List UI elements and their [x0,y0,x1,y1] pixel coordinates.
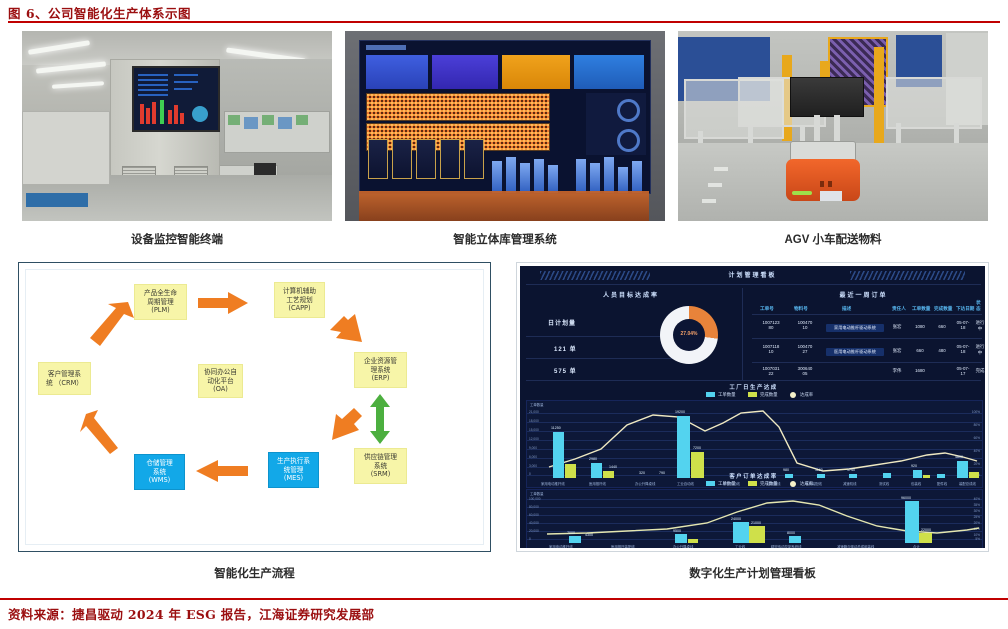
legend-label: 工单数量 [718,392,736,398]
bar-label: 9500 [673,529,681,533]
partition-wall [22,111,110,185]
xtick: 减速箱与驱动总成组装线 [837,544,874,548]
flow-node-erp-label: 企业资源管 理系统 (ERP) [364,357,397,384]
flow-node-erp[interactable]: 企业资源管 理系统 (ERP) [354,352,407,388]
flow-node-plm[interactable]: 产品全生命 周期管理 (PLM) [134,284,187,320]
xtick: 办公升降桌线 [635,481,655,486]
table-cell: 医用电动推杆驱动系统 [826,348,884,356]
flow-node-srm-label: 供应链管理 系统 (SRM) [364,453,397,480]
kpi-value-completed: 121 单 [554,344,577,353]
cart [26,193,88,207]
xtick: 配件线 [937,481,947,486]
chart-bottom: 工单数量 100,000 80,000 60,000 40,000 20,000… [526,489,983,548]
xtick: 合计 [913,544,920,548]
figure-title: 图 6、公司智能化生产体系示图 [8,3,191,22]
kpi-tile [432,55,498,89]
photo-equipment-monitor [22,31,332,221]
kpi-value-total: 575 单 [554,366,577,375]
monitor-screen [132,66,220,132]
flow-node-crm-label: 客户管理系 统 （CRM） [46,370,83,388]
xtick: 装配总成线 [959,481,976,486]
photo-warehouse-system [345,31,665,221]
bar-label: 22000 [921,528,931,532]
flow-node-wms-label: 仓储管理 系统 (WMS) [146,459,172,486]
flow-node-mes-label: 生产执行系 统管理 (MES) [277,457,310,484]
xtick: 家用电动推杆线 [541,481,565,486]
dashboard-screen: 计划管理看板 人员目标达成率 日计划量 121 单 575 单 27.04% 最… [520,266,985,548]
legend-swatch [706,392,715,397]
donut-value: 27.04% [660,331,718,337]
bar-label: 7200 [693,446,701,450]
material-container [790,77,864,117]
table-cell: 1007123 80 [756,320,786,330]
table-cell: 张宏 [888,324,906,330]
xtick: 包装线 [911,481,921,486]
bar-label: 8000 [787,531,795,535]
flow-node-srm[interactable]: 供应链管理 系统 (SRM) [354,448,407,484]
indicator [296,115,308,125]
indicator [228,115,240,125]
legend-label: 达成率 [800,481,813,487]
bar-label: 21000 [751,521,761,525]
arrow-capp-to-erp-icon [326,312,364,350]
arrow-erp-srm-bidirectional-icon [370,394,390,444]
flow-node-mes[interactable]: 生产执行系 统管理 (MES) [268,452,319,488]
caption-photo-3: AGV 小车配送物料 [678,231,988,247]
table-cell: 05-07- 18 [952,344,974,354]
pallet-stack [359,191,649,221]
bar-label: 7000 [567,531,575,535]
flow-diagram: 产品全生命 周期管理 (PLM) 计算机辅助 工艺规划 (CAPP) 企业资源管… [25,269,484,545]
title-divider [8,21,1000,23]
caption-panel-dashboard: 数字化生产计划管理看板 [516,565,989,581]
heatmap-grid [366,93,550,121]
bar-label: 24000 [731,517,741,521]
table-header-0: 工单号 [760,306,774,312]
dashboard-left-title: 人员目标达成率 [526,290,736,299]
legend-label: 工单数量 [718,481,736,487]
donut-chart: 27.04% [660,306,718,364]
figure-source: 资料来源：捷昌驱动 2024 年 ESG 报告，江海证券研究发展部 [8,604,374,623]
bar-label: 2980 [589,457,597,461]
logo-icon [366,45,406,50]
xtick: 精密传动控制系统线 [771,544,802,548]
table-cell: 1007118 10 [756,344,786,354]
yellow-post [874,47,884,145]
bar-label: 4300 [585,533,593,537]
arrow-erp-to-mes-icon [326,406,364,446]
legend-swatch [790,392,796,398]
table-header-1: 物料号 [794,306,808,312]
table-header-3: 责任人 [892,306,906,312]
dashboard-right-title: 最近一周订单 [746,290,981,299]
bar-label: 1440 [609,465,617,469]
footer-divider [0,598,1008,600]
legend-label: 完成数量 [760,392,778,398]
flow-node-crm[interactable]: 客户管理系 统 （CRM） [38,362,91,395]
caption-photo-1: 设备监控智能终端 [22,231,332,247]
xtick: 办公升降桌线 [673,544,693,548]
xtick: 减速机线 [843,481,857,486]
gauge-panel [586,93,646,155]
dashboard-title: 计划管理看板 [520,270,985,279]
table-header-7: 状态 [976,300,985,312]
table-cell: 660 [932,324,952,329]
bar-label: 920 [911,464,917,468]
table-cell: 完成 [972,368,985,374]
conveyor-frame [886,77,982,129]
legend-swatch [748,481,757,486]
xtick: 工业自动线 [677,481,694,486]
legend-label: 达成率 [800,392,813,398]
xtick: 家用电动推杆线 [549,544,573,548]
table-cell: 1080 [910,324,930,329]
table-cell: 进行 中 [972,344,985,356]
table-cell: 05-07- 17 [952,366,974,376]
arrow-mes-to-wms-icon [196,460,248,482]
flow-node-oa[interactable]: 协同办公自 动化平台 (OA) [198,364,243,398]
kpi-tile [502,55,570,89]
table-cell: 100470 27 [790,344,820,354]
chart-top-title: 工厂日生产达成 [520,383,985,391]
photo-agv-transport [678,31,988,221]
table-cell: 05-07- 18 [952,320,974,330]
bar-label: 11250 [551,426,561,430]
table-cell: 家用电动推杆驱动系统 [826,324,884,332]
xtick: 测试线 [879,481,889,486]
bar-label: 96000 [901,496,911,500]
flow-node-oa-label: 协同办公自 动化平台 (OA) [204,368,237,395]
xtick: 工业线 [735,544,745,548]
bar-label: 19200 [675,410,685,414]
panel-digital-dashboard: 计划管理看板 人员目标达成率 日计划量 121 单 575 单 27.04% 最… [516,262,989,552]
kpi-label-plan: 日计划量 [548,318,576,327]
gauge-icon [617,99,640,122]
table-header-6: 下达日期 [956,306,974,312]
table-cell: 李伟 [888,368,906,374]
xtick: 医用推杆线 [589,481,606,486]
panel-production-flow: 产品全生命 周期管理 (PLM) 计算机辅助 工艺规划 (CAPP) 企业资源管… [18,262,491,552]
wms-display [359,40,651,194]
table-cell: 660 [910,348,930,353]
table-cell: 1007031 22 [756,366,786,376]
table-cell: 1680 [910,368,930,373]
table-header-5: 完成数量 [934,306,952,312]
caption-panel-flow: 智能化生产流程 [18,565,491,581]
table-cell: 300640 05 [790,366,820,376]
xtick: 医用推杆装配线 [611,544,635,548]
table-cell: 张宏 [888,348,906,354]
legend-label: 完成数量 [760,481,778,487]
caption-photo-2: 智能立体库管理系统 [345,231,665,247]
arrow-plm-to-capp-icon [198,292,248,314]
gauge-icon [617,129,640,152]
kpi-tile [366,55,428,89]
table-cell: 100470 10 [790,320,820,330]
legend-swatch [706,481,715,486]
flow-node-plm-label: 产品全生命 周期管理 (PLM) [144,289,177,316]
arrow-wms-to-crm-icon [80,410,122,454]
chart-bottom-title: 客户订单达成率 [520,472,985,480]
lamp-icon [52,81,104,89]
legend-swatch [748,392,757,397]
flow-node-wms[interactable]: 仓储管理 系统 (WMS) [134,454,185,490]
indicator [244,117,258,129]
indicator [262,115,274,125]
arrow-crm-to-plm-icon [88,300,134,348]
indicator [278,117,292,129]
table-cell: 进行 中 [972,320,985,332]
table-cell: 480 [932,348,952,353]
kpi-tile [574,55,644,89]
table-header-4: 工单数量 [912,306,930,312]
agv-robot [786,159,860,201]
bar-label: 4800 [955,455,963,459]
table-header-2: 描述 [842,306,851,312]
flow-node-capp-label: 计算机辅助 工艺规划 (CAPP) [283,287,316,314]
legend-swatch [790,481,796,487]
flow-node-capp[interactable]: 计算机辅助 工艺规划 (CAPP) [274,282,325,318]
